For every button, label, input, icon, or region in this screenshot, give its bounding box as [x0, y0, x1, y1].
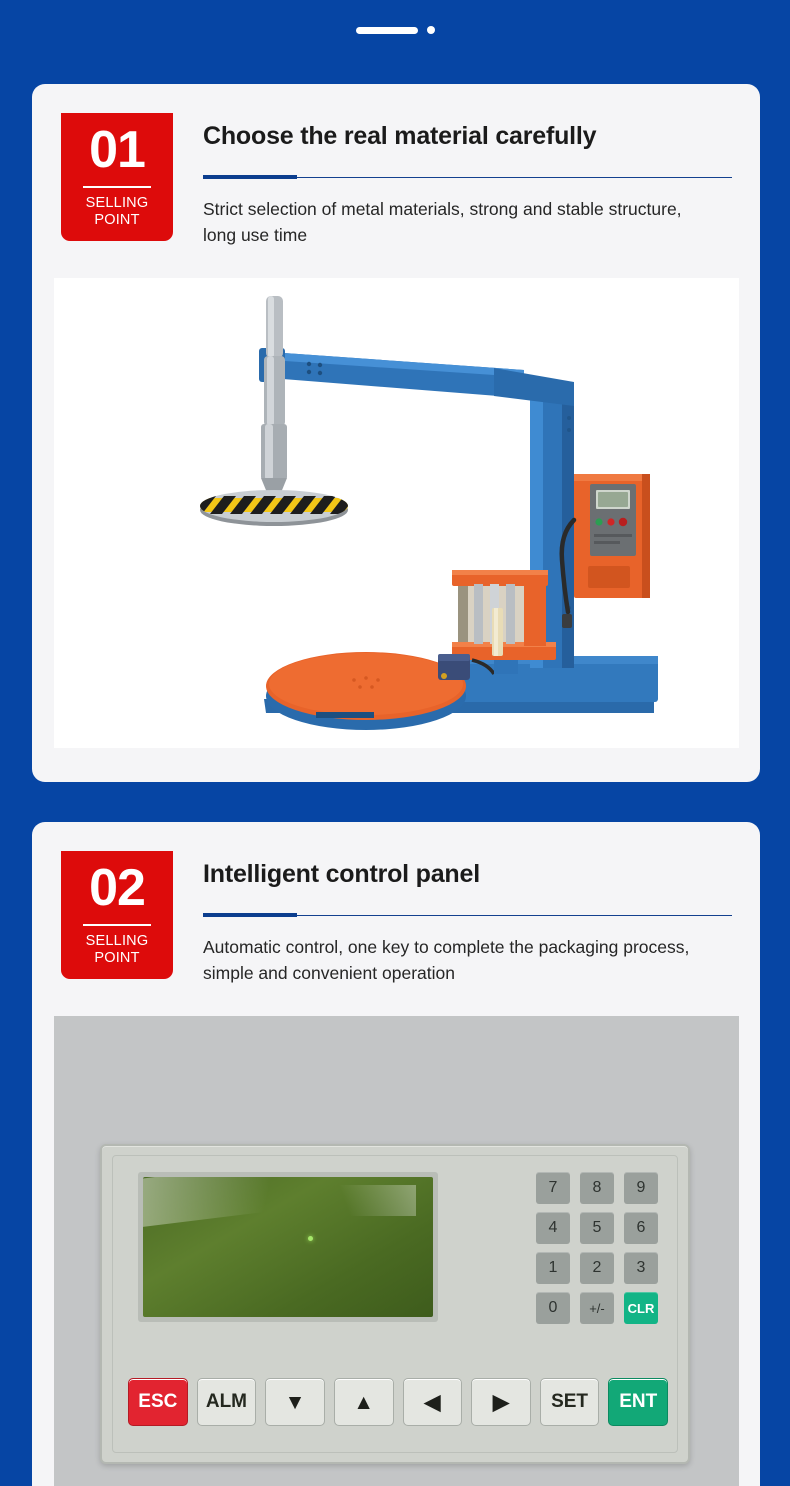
card-2-text-block: Intelligent control panel Automatic cont…	[173, 851, 732, 986]
function-key-arrow-up[interactable]: ▲	[334, 1378, 394, 1426]
numeric-keypad[interactable]: 7894561230+/-CLR	[536, 1172, 658, 1324]
card-1-media-panel	[54, 278, 739, 748]
carousel-dot-1[interactable]	[427, 26, 435, 34]
function-key-arrow-right[interactable]: ▶	[471, 1378, 531, 1426]
badge-label: SELLING POINT	[86, 933, 149, 967]
function-key-set[interactable]: SET	[540, 1378, 600, 1426]
card-2-media-panel: 7894561230+/-CLR ESCALM▼▲◀▶SETENT	[54, 1016, 739, 1486]
selling-point-badge-1: 01 SELLING POINT	[61, 113, 173, 241]
keypad-key-0[interactable]: 0	[536, 1292, 570, 1324]
badge-number: 02	[89, 859, 145, 917]
carousel-indicator[interactable]	[0, 0, 790, 60]
card-title: Choose the real material carefully	[203, 119, 732, 153]
function-key-arrow-down[interactable]: ▼	[265, 1378, 325, 1426]
keypad-key-4[interactable]: 4	[536, 1212, 570, 1244]
keypad-key-2[interactable]: 2	[580, 1252, 614, 1284]
badge-label: SELLING POINT	[86, 195, 149, 229]
selling-point-badge-2: 02 SELLING POINT	[61, 851, 173, 979]
lcd-glare-primary	[143, 1177, 325, 1228]
keypad-key-5[interactable]: 5	[580, 1212, 614, 1244]
card-2-header: 02 SELLING POINT Intelligent control pan…	[32, 822, 760, 986]
badge-label-line-1: SELLING	[86, 933, 149, 950]
keypad-key-3[interactable]: 3	[624, 1252, 658, 1284]
badge-label-line-2: POINT	[86, 212, 149, 229]
function-key-arrow-left[interactable]: ◀	[403, 1378, 463, 1426]
function-key-esc[interactable]: ESC	[128, 1378, 188, 1426]
selling-point-card-1: 01 SELLING POINT Choose the real materia…	[32, 84, 760, 782]
card-title: Intelligent control panel	[203, 857, 732, 891]
lcd-glare-secondary	[317, 1185, 416, 1216]
keypad-key-6[interactable]: 6	[624, 1212, 658, 1244]
badge-divider	[83, 924, 151, 926]
selling-point-card-2: 02 SELLING POINT Intelligent control pan…	[32, 822, 760, 1486]
hmi-control-panel-image: 7894561230+/-CLR ESCALM▼▲◀▶SETENT	[100, 1144, 690, 1464]
lcd-bezel	[138, 1172, 438, 1322]
stretch-wrapping-machine-image	[54, 278, 739, 748]
keypad-key-8[interactable]: 8	[580, 1172, 614, 1204]
card-subtitle: Automatic control, one key to complete t…	[203, 934, 703, 986]
badge-label-line-2: POINT	[86, 950, 149, 967]
keypad-key-clr[interactable]: CLR	[624, 1292, 658, 1324]
function-key-ent[interactable]: ENT	[608, 1378, 668, 1426]
badge-label-line-1: SELLING	[86, 195, 149, 212]
title-accent-rule	[203, 913, 732, 917]
card-1-header: 01 SELLING POINT Choose the real materia…	[32, 84, 760, 248]
lcd-screen	[143, 1177, 433, 1317]
card-subtitle: Strict selection of metal materials, str…	[203, 196, 703, 248]
hmi-body: 7894561230+/-CLR ESCALM▼▲◀▶SETENT	[100, 1144, 690, 1464]
function-key-alm[interactable]: ALM	[197, 1378, 257, 1426]
arrow-down-icon: ▼	[285, 1392, 306, 1413]
function-key-row[interactable]: ESCALM▼▲◀▶SETENT	[128, 1378, 668, 1426]
arrow-right-icon: ▶	[493, 1392, 509, 1413]
keypad-key-[interactable]: +/-	[580, 1292, 614, 1324]
arrow-left-icon: ◀	[424, 1392, 440, 1413]
card-1-text-block: Choose the real material carefully Stric…	[173, 113, 732, 248]
keypad-key-1[interactable]: 1	[536, 1252, 570, 1284]
badge-number: 01	[89, 121, 145, 179]
arrow-up-icon: ▲	[353, 1392, 374, 1413]
title-accent-rule	[203, 175, 732, 179]
carousel-dot-active[interactable]	[356, 27, 418, 34]
keypad-key-7[interactable]: 7	[536, 1172, 570, 1204]
keypad-key-9[interactable]: 9	[624, 1172, 658, 1204]
badge-divider	[83, 186, 151, 188]
lcd-status-led	[308, 1236, 313, 1241]
